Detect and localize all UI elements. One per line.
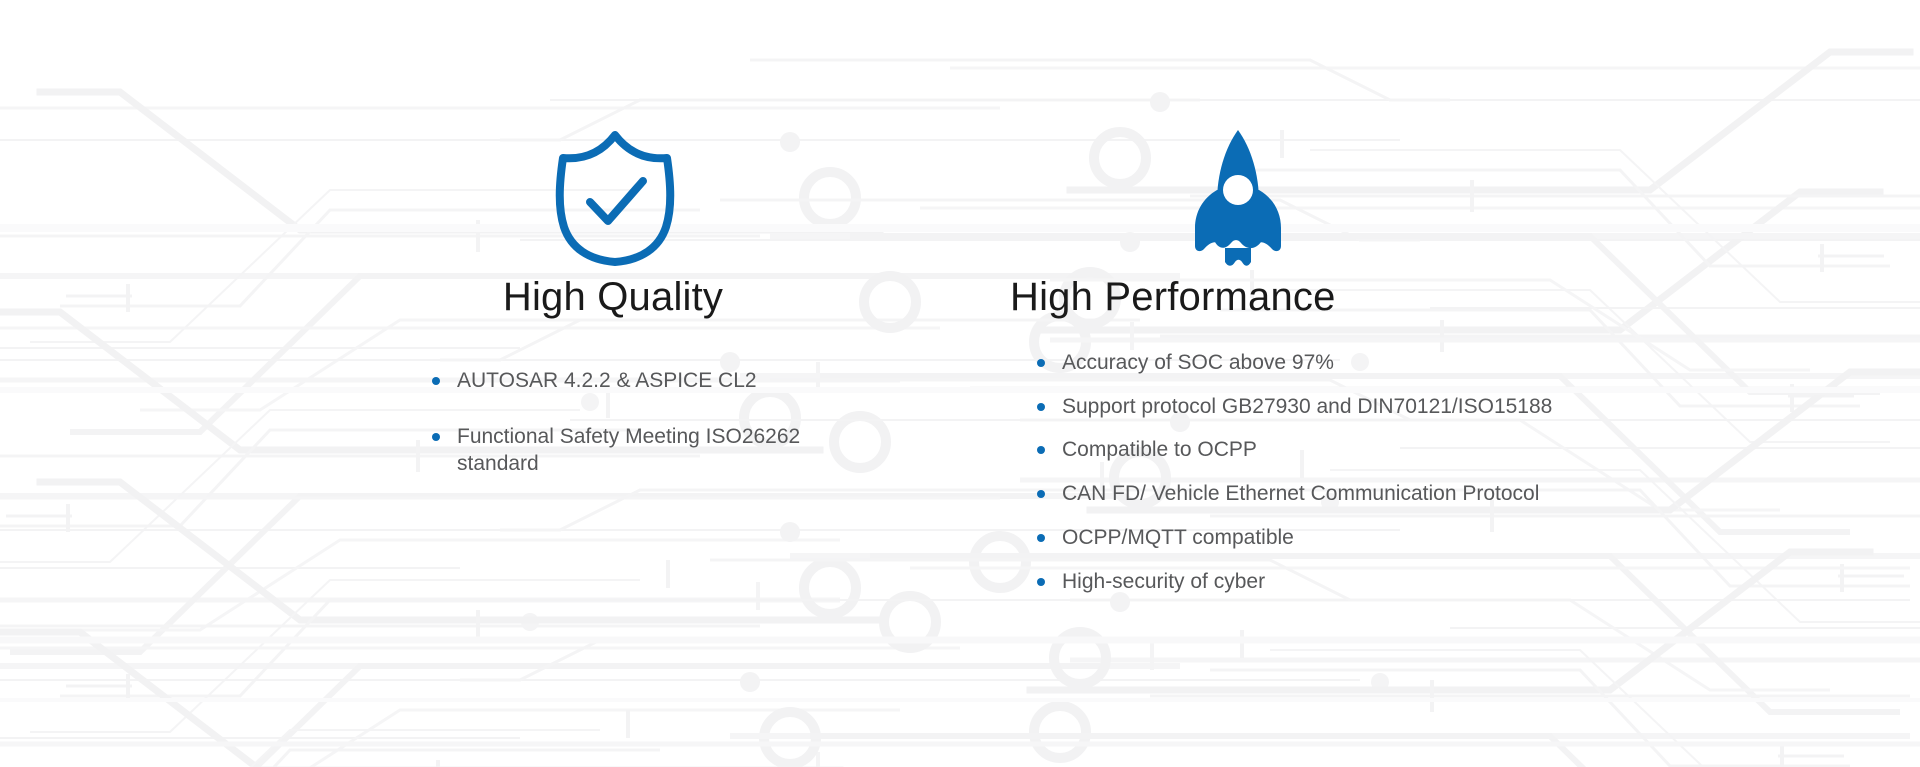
rocket-icon-wrap <box>1010 128 1710 273</box>
feature-column-high-quality: High Quality AUTOSAR 4.2.2 & ASPICE CL2 … <box>370 128 850 506</box>
feature-list-high-performance: Accuracy of SOC above 97% Support protoc… <box>1010 349 1710 595</box>
features-section: High Quality AUTOSAR 4.2.2 & ASPICE CL2 … <box>0 0 1920 767</box>
shield-check-icon <box>552 128 678 268</box>
feature-title-high-performance: High Performance <box>1010 273 1710 321</box>
rocket-icon <box>1185 128 1291 268</box>
feature-column-high-performance: High Performance Accuracy of SOC above 9… <box>1010 128 1710 611</box>
list-item: Compatible to OCPP <box>1037 436 1710 464</box>
feature-list-high-quality: AUTOSAR 4.2.2 & ASPICE CL2 Functional Sa… <box>370 367 850 478</box>
list-item: CAN FD/ Vehicle Ethernet Communication P… <box>1037 480 1710 508</box>
list-item: OCPP/MQTT compatible <box>1037 524 1710 552</box>
shield-check-icon-wrap <box>370 128 850 273</box>
feature-title-high-quality: High Quality <box>370 273 850 321</box>
list-item: Accuracy of SOC above 97% <box>1037 349 1710 377</box>
list-item: High-security of cyber <box>1037 568 1710 596</box>
list-item: AUTOSAR 4.2.2 & ASPICE CL2 <box>432 367 850 395</box>
list-item: Support protocol GB27930 and DIN70121/IS… <box>1037 393 1710 421</box>
list-item: Functional Safety Meeting ISO26262 stand… <box>432 423 850 478</box>
